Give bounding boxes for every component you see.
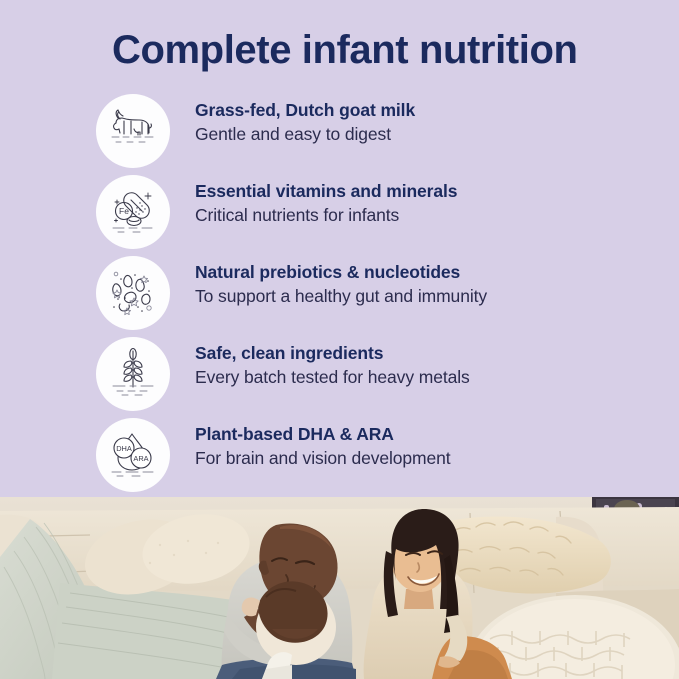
- feature-text: Plant-based DHA & ARA For brain and visi…: [195, 422, 665, 471]
- info-panel: Complete infant nutrition: [0, 0, 679, 497]
- list-item: Natural prebiotics & nucleotides To supp…: [0, 256, 679, 337]
- list-item: Grass-fed, Dutch goat milk Gentle and ea…: [0, 94, 679, 175]
- feature-headline: Natural prebiotics & nucleotides: [195, 260, 665, 284]
- feature-text: Essential vitamins and minerals Critical…: [195, 179, 665, 228]
- feature-headline: Plant-based DHA & ARA: [195, 422, 665, 446]
- goat-icon: [96, 94, 170, 168]
- feature-text: Grass-fed, Dutch goat milk Gentle and ea…: [195, 98, 665, 147]
- feature-subtext: Every batch tested for heavy metals: [195, 365, 665, 390]
- product-infographic: Complete infant nutrition: [0, 0, 679, 679]
- feature-headline: Safe, clean ingredients: [195, 341, 665, 365]
- feature-subtext: Critical nutrients for infants: [195, 203, 665, 228]
- probiotic-bacteria-icon: [96, 256, 170, 330]
- feature-text: Safe, clean ingredients Every batch test…: [195, 341, 665, 390]
- feature-subtext: To support a healthy gut and immunity: [195, 284, 665, 309]
- page-title: Complete infant nutrition: [112, 28, 578, 73]
- dha-label: DHA: [116, 444, 132, 453]
- feature-subtext: For brain and vision development: [195, 446, 665, 471]
- list-item: Fe Essential vitamins and minerals: [0, 175, 679, 256]
- feature-subtext: Gentle and easy to digest: [195, 122, 665, 147]
- lifestyle-photo: [0, 497, 679, 679]
- list-item: DHA ARA Plant-based DHA & ARA For brain …: [0, 418, 679, 499]
- feature-text: Natural prebiotics & nucleotides To supp…: [195, 260, 665, 309]
- ara-label: ARA: [133, 454, 148, 463]
- feature-list: Grass-fed, Dutch goat milk Gentle and ea…: [0, 94, 679, 499]
- feature-headline: Grass-fed, Dutch goat milk: [195, 98, 665, 122]
- dha-ara-droplet-icon: DHA ARA: [96, 418, 170, 492]
- list-item: Safe, clean ingredients Every batch test…: [0, 337, 679, 418]
- wheat-stalk-icon: [96, 337, 170, 411]
- feature-headline: Essential vitamins and minerals: [195, 179, 665, 203]
- iron-symbol-label: Fe: [119, 206, 129, 216]
- vitamin-capsule-iron-icon: Fe: [96, 175, 170, 249]
